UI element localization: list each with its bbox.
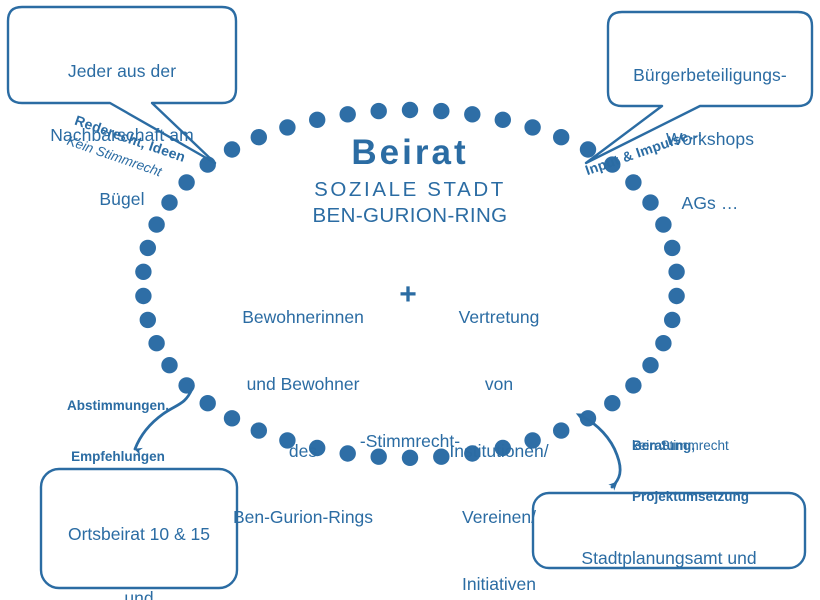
box-bottom-right[interactable]: Stadtplanungsamt und Quartiersmanagement <box>537 505 801 600</box>
circle-dot <box>625 377 641 393</box>
circle-dot <box>668 288 684 304</box>
circle-dot <box>668 264 684 280</box>
center-subtitle-1: SOZIALE STADT <box>260 177 560 202</box>
box-bottom-left[interactable]: Ortsbeirat 10 & 15 und Magistrat der Sta… <box>44 481 234 600</box>
circle-dot <box>140 312 156 328</box>
circle-dot <box>604 395 620 411</box>
circle-dot <box>402 102 418 118</box>
box-bl-line-2: und <box>44 588 234 600</box>
box-bl-line-1: Ortsbeirat 10 & 15 <box>44 524 234 545</box>
circle-dot <box>642 357 658 373</box>
center-subtitle-2: BEN-GURION-RING <box>260 203 560 228</box>
arrow-label-beratung-line-2: Projektumsetzung <box>632 488 812 505</box>
circle-dot <box>580 141 596 157</box>
circle-dot <box>655 335 671 351</box>
circle-dot <box>309 112 325 128</box>
speech-bubble-top-right[interactable]: Bürgerbeteiligungs- Workshops AGs … <box>612 22 808 257</box>
circle-dot <box>135 264 151 280</box>
diagram-canvas: Jeder aus der Nachbarschaft am Bügel Bür… <box>0 0 820 600</box>
center-left-line-4: Ben-Gurion-Rings <box>214 506 392 528</box>
center-right-line-1: Vertretung <box>424 306 574 328</box>
center-left-line-2: und Bewohner <box>214 373 392 395</box>
plus-sign: + <box>394 277 422 314</box>
arrow-label-kein-stimmrecht-right: kein Stimmrecht <box>632 437 812 454</box>
center-right-line-2: von <box>424 373 574 395</box>
circle-dot <box>664 312 680 328</box>
box-br-line-1: Stadtplanungsamt und <box>537 548 801 569</box>
circle-dot <box>495 112 511 128</box>
circle-dot <box>464 106 480 122</box>
circle-dot <box>340 106 356 122</box>
center-title: Beirat <box>260 132 560 175</box>
arrow-label-abstimmungen-line-2: Empfehlungen <box>48 448 188 465</box>
circle-dot <box>148 335 164 351</box>
circle-dot <box>135 288 151 304</box>
bubble-tr-line-3: AGs … <box>612 193 808 214</box>
bubble-tl-line-1: Jeder aus der <box>16 61 228 82</box>
circle-dot <box>433 103 449 119</box>
arrow-label-abstimmungen: Abstimmungen, Empfehlungen <box>48 362 188 500</box>
bubble-tr-line-1: Bürgerbeteiligungs- <box>612 65 808 86</box>
center-left-column: Bewohnerinnen und Bewohner des Ben-Gurio… <box>214 262 392 573</box>
arrow-label-abstimmungen-line-1: Abstimmungen, <box>48 397 188 414</box>
arrow-right-circle-to-box <box>583 417 620 487</box>
circle-dot <box>371 103 387 119</box>
center-footer-stimmrecht: -Stimmrecht- <box>310 431 510 452</box>
center-left-line-1: Bewohnerinnen <box>214 306 392 328</box>
bubble-tl-line-3: Bügel <box>16 189 228 210</box>
